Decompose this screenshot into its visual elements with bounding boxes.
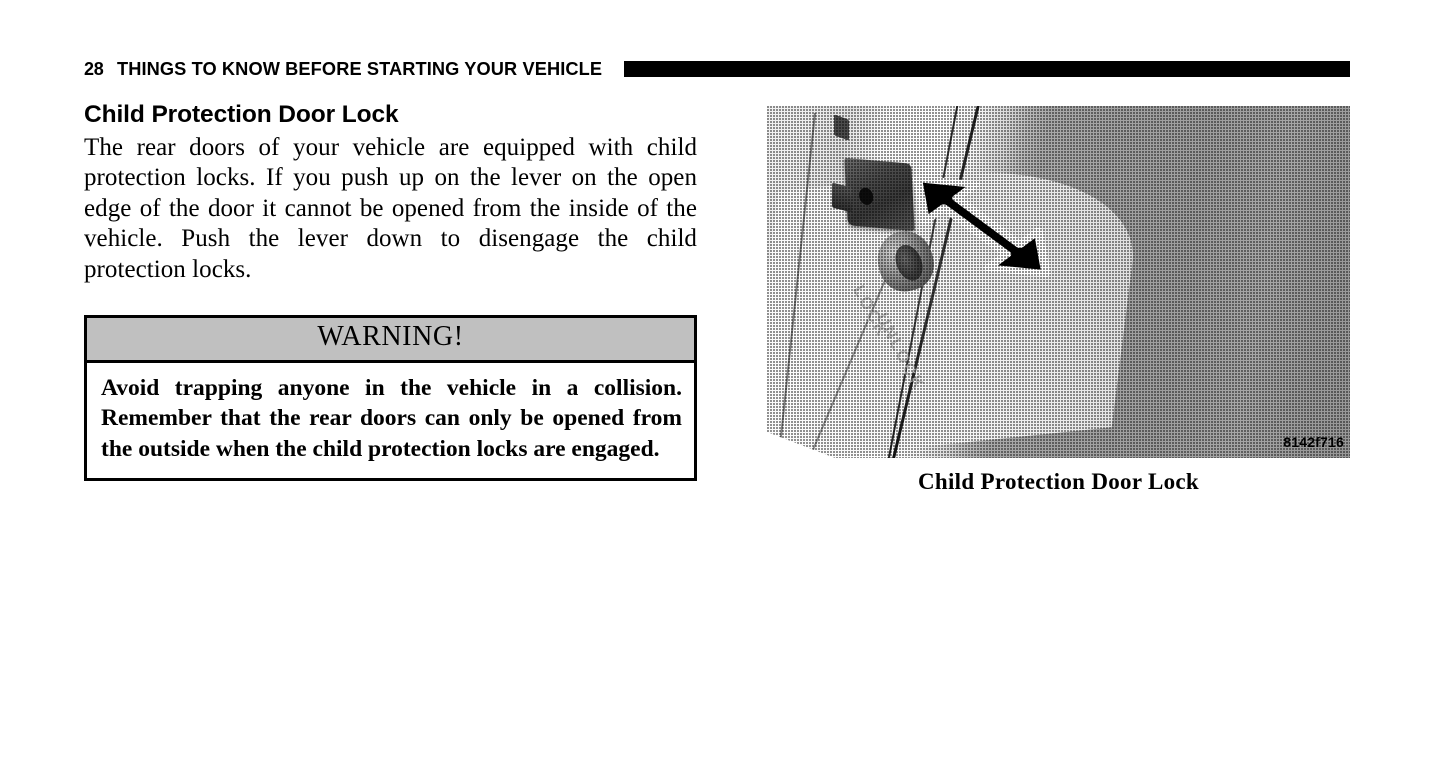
figure-image-id: 8142f716 [1281,434,1346,450]
double-headed-arrow-icon [907,171,1064,287]
header-rule-bar [624,61,1350,77]
text-column: Child Protection Door Lock The rear door… [84,100,697,285]
page-number: 28 [84,60,103,78]
warning-box: WARNING! Avoid trapping anyone in the ve… [84,315,697,481]
section-heading: Child Protection Door Lock [84,100,697,130]
warning-title-bar: WARNING! [87,318,694,363]
child-lock-lever [844,157,914,230]
child-lock-lever-stub [832,183,852,213]
body-paragraph: The rear doors of your vehicle are equip… [84,133,697,286]
child-lock-lever-hole [858,187,874,206]
warning-body: Avoid trapping anyone in the vehicle in … [87,363,694,479]
warning-title: WARNING! [317,321,463,352]
page-running-header: 28 THINGS TO KNOW BEFORE STARTING YOUR V… [84,56,1350,82]
warning-text: Avoid trapping anyone in the vehicle in … [101,373,682,465]
figure-child-protection-door-lock: LOCK UNLOCK 8142f716 Child Protection Do… [767,106,1350,495]
page-title: THINGS TO KNOW BEFORE STARTING YOUR VEHI… [117,60,602,79]
figure-caption: Child Protection Door Lock [767,469,1350,495]
figure-image: LOCK UNLOCK 8142f716 [767,106,1350,458]
